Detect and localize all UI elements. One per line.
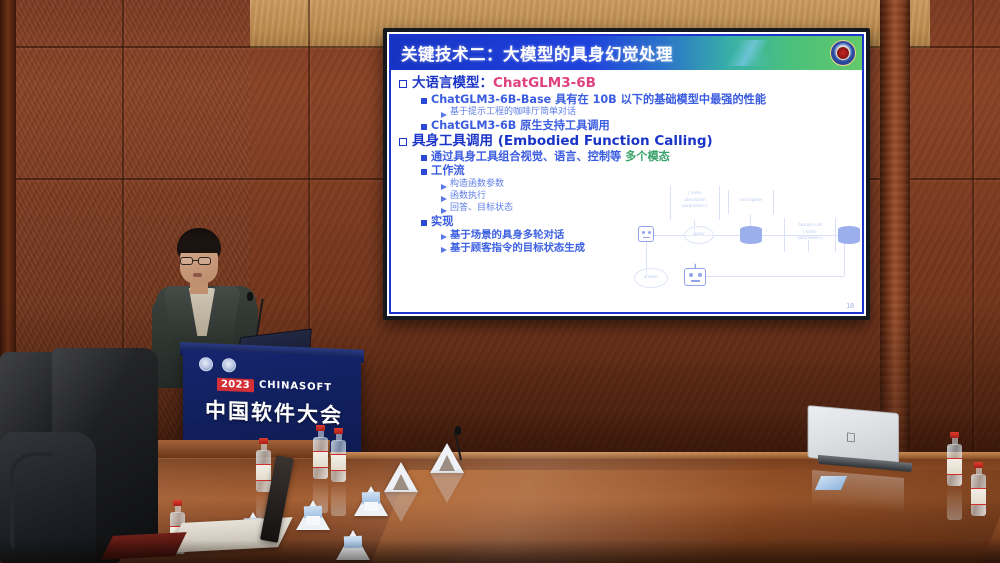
presenter-hair-front [177, 233, 221, 253]
filled-square-bullet-icon [421, 124, 427, 130]
bullet-text: 基于场景的具身多轮对话 [450, 230, 564, 241]
arrow-bullet-icon [441, 196, 447, 202]
list-item: 基于顾客指令的目标状态生成 [441, 243, 858, 254]
bottle-reflection [331, 482, 346, 516]
presenter-mouth [193, 273, 202, 277]
hollow-square-bullet-icon [399, 80, 407, 88]
presentation-display[interactable]: 关键技术二：大模型的具身幻觉处理 ( namedescriptionparame… [383, 28, 870, 320]
bullet-text: 函数执行 [450, 192, 486, 202]
filled-square-bullet-icon [421, 155, 427, 161]
card-holder-inner-shadow [393, 474, 409, 490]
list-item: 基于提示工程的咖啡厅简单对话 [441, 108, 858, 118]
name-card-holder[interactable] [296, 500, 330, 530]
bullet-text: 具身工具调用 (Embodied Function Calling) [412, 134, 713, 149]
filled-square-bullet-icon [421, 220, 427, 226]
table-microphone-head [455, 426, 461, 435]
arrow-bullet-icon [441, 112, 447, 118]
card-holder-insert [306, 516, 320, 525]
list-item: 工作流 [421, 165, 858, 177]
filled-square-bullet-icon [421, 98, 427, 104]
bullet-text: 大语言模型： [412, 75, 493, 91]
bullet-text: 基于提示工程的咖啡厅简单对话 [450, 108, 576, 118]
name-card-holder-reflection [384, 492, 418, 522]
arrow-bullet-icon [441, 184, 447, 190]
bullet-text: 通过具身工具组合视觉、语言、控制等 [431, 150, 625, 163]
bullet-text: 回答、目标状态 [450, 204, 513, 214]
bullet-text: 工作流 [431, 165, 465, 177]
name-card-holder[interactable] [354, 486, 388, 516]
list-item: 回答、目标状态 [441, 204, 858, 214]
eyeglasses-right-lens [198, 257, 211, 265]
list-item: ChatGLM3-6B 原生支持工具调用 [421, 120, 858, 132]
hollow-square-bullet-icon [399, 138, 407, 146]
slide-bullet-list: 大语言模型：ChatGLM3-6B ChatGLM3-6B-Base 具有在 1… [399, 76, 858, 310]
filled-square-bullet-icon [421, 169, 427, 175]
podium-year-badge: 2023 [217, 378, 254, 393]
wall-seam-vertical-2 [308, 0, 310, 340]
card-holder-inner-shadow [439, 455, 455, 471]
bullet-accent-text: 多个模态 [625, 150, 670, 163]
bottle-reflection [947, 486, 962, 520]
list-item: 构造函数参数 [441, 180, 858, 190]
bottle-label [947, 458, 962, 475]
bottle-label [313, 451, 328, 468]
bullet-text: 构造函数参数 [450, 180, 504, 190]
org-logo-left-icon [199, 357, 213, 372]
bullet-text: 基于顾客指令的目标状态生成 [450, 243, 585, 254]
eyeglasses-left-lens [180, 257, 193, 265]
name-card-holder-reflection [430, 473, 464, 503]
bullet-text: ChatGLM3-6B 原生支持工具调用 [431, 120, 610, 132]
macbook-laptop[interactable]:  [806, 409, 914, 475]
wall-seam-horizontal-2 [0, 178, 390, 180]
title-bar-wave-decoration [686, 40, 806, 66]
slide-title: 关键技术二：大模型的具身幻觉处理 [401, 36, 673, 70]
card-holder-insert [364, 502, 378, 511]
list-item: ChatGLM3-6B-Base 具有在 10B 以下的基础模型中最强的性能 [421, 94, 858, 106]
list-item: 具身工具调用 (Embodied Function Calling) [399, 134, 858, 149]
list-item: 函数执行 [441, 192, 858, 202]
bottle-label [971, 488, 986, 505]
arrow-bullet-icon [441, 208, 447, 214]
list-item: 基于场景的具身多轮对话 [441, 230, 858, 241]
eyeglasses-bridge [193, 260, 198, 261]
bottle-label [331, 454, 346, 471]
slide-page-number: 18 [846, 303, 854, 310]
slide-content: 关键技术二：大模型的具身幻觉处理 ( namedescriptionparame… [387, 32, 866, 316]
apple-logo-icon:  [846, 430, 858, 444]
bullet-text: 实现 [431, 216, 453, 228]
institution-emblem-icon [830, 40, 856, 66]
bullet-text: ChatGLM3-6B-Base 具有在 10B 以下的基础模型中最强的性能 [431, 94, 766, 106]
backpack-strap [10, 452, 56, 552]
list-item: 实现 [421, 216, 858, 228]
bottle-label [256, 464, 271, 481]
name-card-holder[interactable] [384, 462, 418, 492]
podium-logos [199, 357, 236, 373]
org-logo-right-icon [222, 358, 236, 373]
foreground-shadow [0, 540, 1000, 563]
podium-english-title: CHINASOFT [259, 379, 332, 393]
arrow-bullet-icon [441, 247, 447, 253]
conference-room-scene: 关键技术二：大模型的具身幻觉处理 ( namedescriptionparame… [0, 0, 1000, 563]
arrow-bullet-icon [441, 234, 447, 240]
list-item: 大语言模型：ChatGLM3-6B [399, 76, 858, 91]
bullet-accent-text: ChatGLM3-6B [493, 75, 596, 91]
list-item: 通过具身工具组合视觉、语言、控制等 多个模态 [421, 151, 858, 163]
gooseneck-microphone-head [247, 292, 253, 301]
